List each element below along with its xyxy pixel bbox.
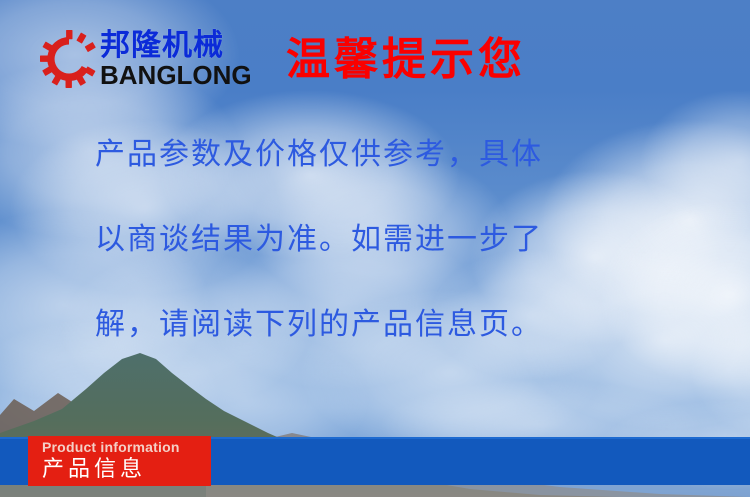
promo-banner: 邦隆机械 BANGLONG 温馨提示您 产品参数及价格仅供参考，具体 以商谈结果… [0,0,750,497]
section-label-en: Product information [42,440,211,455]
notice-line: 产品参数及价格仅供参考，具体 [95,140,695,170]
section-label-block: Product information 产品信息 [28,436,211,486]
section-label-cn: 产品信息 [42,457,211,482]
page-title: 温馨提示您 [286,36,526,84]
notice-line: 解，请阅读下列的产品信息页。 [95,310,695,340]
notice-text-block: 产品参数及价格仅供参考，具体 以商谈结果为准。如需进一步了 解，请阅读下列的产品… [95,140,695,340]
company-logo[interactable]: 邦隆机械 BANGLONG [40,28,252,90]
logo-company-name-cn: 邦隆机械 [100,31,252,61]
logo-text-block: 邦隆机械 BANGLONG [100,31,252,88]
logo-company-name-en: BANGLONG [100,62,252,88]
gear-icon [40,30,98,88]
notice-line: 以商谈结果为准。如需进一步了 [95,225,695,255]
